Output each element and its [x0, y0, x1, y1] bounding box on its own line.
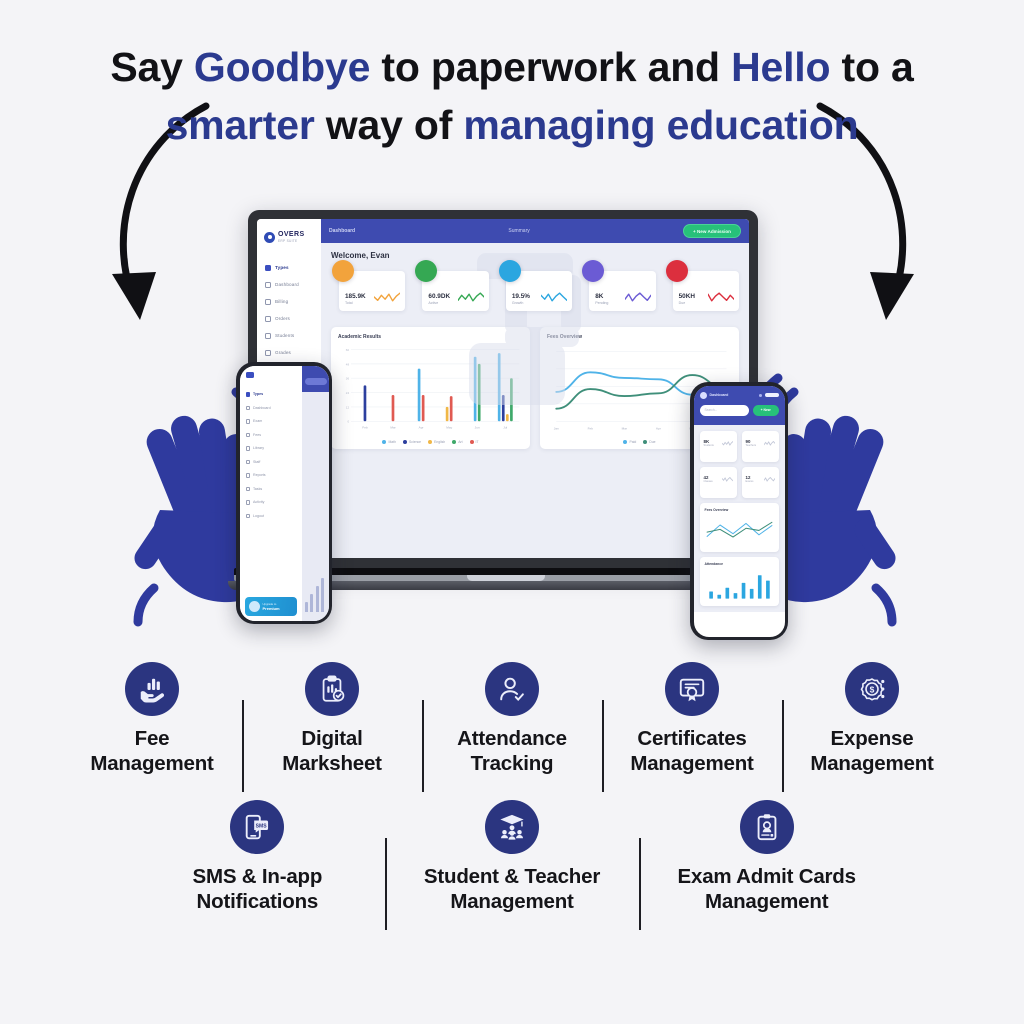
- legend-label: Due: [649, 440, 655, 444]
- drawer-item-label: Activity: [253, 500, 264, 504]
- drawer-item-tasks[interactable]: Tasks: [240, 482, 302, 496]
- sidebar-item-grades[interactable]: Grades: [257, 344, 321, 361]
- phone-mockup-left: TypesDashboardExamFeesLibraryStaffReport…: [236, 362, 332, 624]
- headline-1-seg-4: to a: [830, 44, 913, 90]
- legend-color-swatch: [643, 440, 647, 444]
- mobile-stat-label: Students: [704, 444, 714, 447]
- legend-color-swatch: [403, 440, 407, 444]
- drawer-item-icon: [246, 514, 251, 519]
- stat-card-label: Pending: [595, 301, 608, 305]
- user-avatar[interactable]: [700, 392, 707, 399]
- stat-card[interactable]: 60.9DKActive: [414, 271, 488, 311]
- menu-bar-icon[interactable]: [765, 393, 779, 397]
- upgrade-promo-card[interactable]: Upgrade to Premium: [245, 597, 297, 616]
- mobile-stat-label: Exams: [746, 480, 754, 483]
- nav-item-icon: [265, 299, 271, 305]
- svg-text:$: $: [870, 684, 875, 694]
- svg-text:60: 60: [346, 348, 350, 352]
- mobile-stat-sparkline: [764, 477, 775, 483]
- sidebar-item-label: Orders: [275, 316, 290, 321]
- certificate-seal-icon: [665, 662, 719, 716]
- bar-chart-title: Academic Results: [338, 334, 523, 340]
- legend-color-swatch: [623, 440, 627, 444]
- stat-card-sparkline: [541, 292, 567, 305]
- legend-color-swatch: [452, 440, 456, 444]
- svg-text:48: 48: [346, 362, 350, 366]
- phone-sms-icon: SMS: [230, 800, 284, 854]
- svg-text:Jan: Jan: [554, 427, 559, 431]
- line-chart-title: Fees Overview: [547, 334, 732, 340]
- dashboard-content: Welcome, Evan 185.9KTotal60.9DKActive19.…: [321, 243, 749, 558]
- stat-card-sparkline: [708, 292, 734, 305]
- person-check-icon: [485, 662, 539, 716]
- mobile-stat-label: Teachers: [746, 444, 757, 447]
- sidebar-item-dashboard[interactable]: Dashboard: [257, 276, 321, 293]
- svg-text:0: 0: [347, 420, 349, 424]
- topbar-breadcrumb: Dashboard: [329, 228, 355, 234]
- mobile-header-title: Dashboard: [710, 393, 729, 397]
- mobile-search-input[interactable]: Search...: [700, 405, 749, 416]
- legend-item: Due: [643, 440, 655, 444]
- feature-label: Exam Admit Cards Management: [678, 865, 856, 914]
- bar-chart-plot: 01224364860FebMarAprMayJunJul: [338, 344, 523, 436]
- sidebar-item-orders[interactable]: Orders: [257, 310, 321, 327]
- drawer-item-label: Reports: [253, 473, 266, 477]
- stat-card[interactable]: 8KPending: [581, 271, 655, 311]
- drawer-nav-list: TypesDashboardExamFeesLibraryStaffReport…: [240, 388, 302, 597]
- logo-text: OVERS: [278, 231, 305, 238]
- feature-label: SMS & In-app Notifications: [192, 865, 322, 914]
- id-card-icon: [740, 800, 794, 854]
- sidebar-item-label: Grades: [275, 350, 291, 355]
- mobile-new-button[interactable]: + New: [753, 405, 779, 416]
- drawer-item-fees[interactable]: Fees: [240, 428, 302, 442]
- drawer-item-label: Exam: [253, 419, 262, 423]
- phone-frame-left: TypesDashboardExamFeesLibraryStaffReport…: [236, 362, 332, 624]
- stat-card[interactable]: 50KHDue: [665, 271, 739, 311]
- feature-attendance-tracking[interactable]: Attendance Tracking: [422, 662, 602, 776]
- mobile-stat-sparkline: [722, 441, 733, 447]
- feature-label: Fee Management: [90, 727, 213, 776]
- promo-graphic: Say Goodbye to paperwork and Hello to a …: [0, 0, 1024, 1024]
- sidebar-item-label: Billing: [275, 299, 288, 304]
- stat-card-accent-icon: [666, 260, 688, 282]
- feature-label: Certificates Management: [630, 727, 753, 776]
- feature-row-secondary: SMSSMS & In-app NotificationsStudent & T…: [0, 800, 1024, 914]
- dashboard-main: Dashboard Summary + New Admission: [321, 219, 749, 558]
- mobile-bar-panel: Attendance: [700, 557, 779, 606]
- feature-label: Digital Marksheet: [282, 727, 382, 776]
- feature-label: Expense Management: [810, 727, 933, 776]
- bar-chart-panel: Academic Results 01224364860FebMarAprMay…: [331, 327, 530, 449]
- page-title: Say Goodbye to paperwork and Hello to a …: [0, 38, 1024, 154]
- phone-screen-left: TypesDashboardExamFeesLibraryStaffReport…: [240, 366, 329, 621]
- drawer-item-label: Tasks: [253, 487, 262, 491]
- svg-text:Apr: Apr: [656, 427, 661, 431]
- clipboard-check-icon: [305, 662, 359, 716]
- feature-list: Fee ManagementDigital MarksheetAttendanc…: [0, 662, 1024, 914]
- sidebar-item-label: Types: [275, 265, 289, 270]
- legend-item: Science: [403, 440, 421, 444]
- drawer-item-label: Fees: [253, 433, 261, 437]
- notification-dot-icon[interactable]: [759, 394, 762, 397]
- backdrop-pill: [305, 378, 327, 385]
- stat-card-label: Total: [345, 301, 366, 305]
- sidebar-item-students[interactable]: Students: [257, 327, 321, 344]
- headline-1-seg-1: Goodbye: [194, 44, 370, 90]
- svg-text:Mar: Mar: [622, 427, 627, 431]
- phone-frame-right: Dashboard Search... + New 8KStudents90Te…: [690, 382, 788, 640]
- feature-certificates-management[interactable]: Certificates Management: [602, 662, 782, 776]
- drawer-item-icon: [246, 433, 251, 438]
- mobile-stat-label: Classes: [704, 480, 713, 483]
- stat-card-sparkline: [374, 292, 400, 305]
- mobile-header: Dashboard Search... + New: [694, 386, 785, 425]
- stat-card-label: Due: [679, 301, 695, 305]
- feature-label: Student & Teacher Management: [424, 865, 600, 914]
- headline-2-seg-2: managing education: [463, 102, 858, 148]
- legend-label: Art: [458, 440, 462, 444]
- sidebar-item-types[interactable]: Types: [257, 259, 321, 276]
- bar-chart-legend: MathScienceEnglishArtIT: [338, 440, 523, 444]
- svg-text:Jul: Jul: [503, 426, 507, 430]
- stat-card-row: 185.9KTotal60.9DKActive19.5%Growth8KPend…: [331, 271, 739, 311]
- drawer-item-dashboard[interactable]: Dashboard: [240, 401, 302, 415]
- mobile-stat-card[interactable]: 90Teachers: [742, 431, 779, 462]
- legend-label: Math: [388, 440, 396, 444]
- svg-text:Mar: Mar: [390, 426, 395, 430]
- svg-text:Feb: Feb: [362, 426, 368, 430]
- nav-item-icon: [265, 333, 271, 339]
- sidebar-item-label: Students: [275, 333, 294, 338]
- mobile-bar-plot: [705, 569, 774, 601]
- stat-card-sparkline: [625, 292, 651, 305]
- legend-label: Paid: [629, 440, 636, 444]
- legend-item: English: [428, 440, 445, 444]
- drawer-item-icon: [246, 500, 251, 505]
- drawer-item-label: Library: [253, 446, 264, 450]
- promo-avatar-icon: [249, 601, 260, 612]
- nav-item-icon: [265, 282, 271, 288]
- drawer-item-library[interactable]: Library: [240, 442, 302, 456]
- mobile-stat-grid: 8KStudents90Teachers42Classes12Exams: [700, 431, 779, 498]
- stat-card-value: 19.5%: [512, 293, 530, 300]
- legend-label: Science: [409, 440, 421, 444]
- feature-exam-admit-cards-management[interactable]: Exam Admit Cards Management: [639, 800, 894, 914]
- nav-item-icon: [265, 265, 271, 271]
- svg-text:12: 12: [346, 405, 350, 409]
- drawer-item-types[interactable]: Types: [240, 388, 302, 402]
- mobile-line-panel: Fees Overview: [700, 503, 779, 552]
- feature-label: Attendance Tracking: [457, 727, 567, 776]
- drawer-item-exam[interactable]: Exam: [240, 415, 302, 429]
- stat-card-sparkline: [458, 292, 484, 305]
- mobile-stat-card[interactable]: 42Classes: [700, 467, 737, 498]
- stat-card-accent-icon: [499, 260, 521, 282]
- drawer-backdrop[interactable]: [302, 366, 329, 621]
- stat-card[interactable]: 185.9KTotal: [331, 271, 405, 311]
- feature-digital-marksheet[interactable]: Digital Marksheet: [242, 662, 422, 776]
- headline-1-seg-3: Hello: [731, 44, 830, 90]
- stat-card-accent-icon: [332, 260, 354, 282]
- hand-coins-icon: [125, 662, 179, 716]
- svg-text:Apr: Apr: [419, 426, 424, 430]
- legend-label: IT: [476, 440, 479, 444]
- welcome-text: Welcome, Evan: [331, 251, 739, 260]
- svg-text:May: May: [446, 426, 452, 430]
- drawer-item-activity[interactable]: Activity: [240, 496, 302, 510]
- drawer-item-icon: [246, 473, 251, 478]
- gear-dollar-icon: $: [845, 662, 899, 716]
- feature-expense-management[interactable]: $Expense Management: [782, 662, 962, 776]
- drawer-item-logout[interactable]: Logout: [240, 509, 302, 523]
- drawer-item-icon: [246, 406, 251, 411]
- stat-card-value: 8K: [595, 293, 608, 300]
- chart-row: Academic Results 01224364860FebMarAprMay…: [331, 327, 739, 449]
- legend-item: IT: [470, 440, 479, 444]
- phone-mockup-right: Dashboard Search... + New 8KStudents90Te…: [690, 382, 788, 640]
- sidebar-nav: TypesDashboardBillingOrdersStudentsGrade…: [257, 259, 321, 378]
- drawer-item-icon: [246, 392, 251, 397]
- drawer-item-icon: [246, 460, 251, 465]
- mobile-stat-sparkline: [764, 441, 775, 447]
- phone-screen-right: Dashboard Search... + New 8KStudents90Te…: [694, 386, 785, 637]
- drawer-item-label: Staff: [253, 460, 260, 464]
- graduation-people-icon: [485, 800, 539, 854]
- mobile-body: 8KStudents90Teachers42Classes12Exams Fee…: [694, 425, 785, 612]
- legend-item: Math: [382, 440, 396, 444]
- app-logo[interactable]: OVERS ERP SUITE: [257, 226, 321, 248]
- mobile-line-title: Fees Overview: [705, 508, 774, 512]
- legend-item: Art: [452, 440, 462, 444]
- drawer-logo-icon: [240, 372, 302, 382]
- stat-card-value: 50KH: [679, 293, 695, 300]
- new-admission-button[interactable]: + New Admission: [683, 224, 741, 238]
- logo-subtext: ERP SUITE: [278, 239, 305, 243]
- drawer-item-label: Logout: [253, 514, 264, 518]
- promo-title: Premium: [263, 606, 280, 611]
- mobile-stat-sparkline: [722, 477, 733, 483]
- topbar-title: Summary: [508, 228, 529, 234]
- mobile-stat-card[interactable]: 8KStudents: [700, 431, 737, 462]
- mobile-stat-card[interactable]: 12Exams: [742, 467, 779, 498]
- drawer-item-staff[interactable]: Staff: [240, 455, 302, 469]
- feature-fee-management[interactable]: Fee Management: [62, 662, 242, 776]
- drawer-item-icon: [246, 419, 251, 424]
- svg-text:Jun: Jun: [475, 426, 480, 430]
- mobile-bar-title: Attendance: [705, 562, 774, 566]
- stat-card-value: 185.9K: [345, 293, 366, 300]
- drawer-item-label: Dashboard: [253, 406, 271, 410]
- stat-card-value: 60.9DK: [428, 293, 450, 300]
- headline-line-2: smarter way of managing education: [0, 96, 1024, 154]
- svg-text:SMS: SMS: [256, 823, 268, 829]
- headline-1-seg-0: Say: [110, 44, 194, 90]
- svg-text:Feb: Feb: [588, 427, 594, 431]
- feature-row-primary: Fee ManagementDigital MarksheetAttendanc…: [0, 662, 1024, 776]
- svg-text:36: 36: [346, 377, 350, 381]
- headline-2-seg-0: smarter: [166, 102, 315, 148]
- headline-1-seg-2: to paperwork and: [370, 44, 731, 90]
- stat-card[interactable]: 19.5%Growth: [498, 271, 572, 311]
- sidebar-item-billing[interactable]: Billing: [257, 293, 321, 310]
- feature-student-teacher-management[interactable]: Student & Teacher Management: [385, 800, 640, 914]
- stat-card-label: Growth: [512, 301, 530, 305]
- legend-label: English: [434, 440, 445, 444]
- legend-color-swatch: [470, 440, 474, 444]
- legend-item: Paid: [623, 440, 636, 444]
- backdrop-bars: [305, 578, 325, 612]
- dashboard-topbar: Dashboard Summary + New Admission: [321, 219, 749, 243]
- headline-2-seg-1: way of: [315, 102, 464, 148]
- logo-mark-icon: [264, 232, 275, 243]
- nav-item-icon: [265, 350, 271, 356]
- drawer-item-icon: [246, 446, 251, 451]
- feature-sms-in-app-notifications[interactable]: SMSSMS & In-app Notifications: [130, 800, 385, 914]
- nav-item-icon: [265, 316, 271, 322]
- legend-color-swatch: [382, 440, 386, 444]
- headline-line-1: Say Goodbye to paperwork and Hello to a: [110, 44, 913, 90]
- drawer-item-label: Types: [253, 392, 263, 396]
- stat-card-label: Active: [428, 301, 450, 305]
- drawer-item-reports[interactable]: Reports: [240, 469, 302, 483]
- drawer-item-icon: [246, 487, 251, 492]
- mobile-line-plot: [705, 515, 774, 547]
- legend-color-swatch: [428, 440, 432, 444]
- sidebar-item-label: Dashboard: [275, 282, 299, 287]
- svg-text:24: 24: [346, 391, 350, 395]
- mobile-nav-drawer: TypesDashboardExamFeesLibraryStaffReport…: [240, 366, 302, 621]
